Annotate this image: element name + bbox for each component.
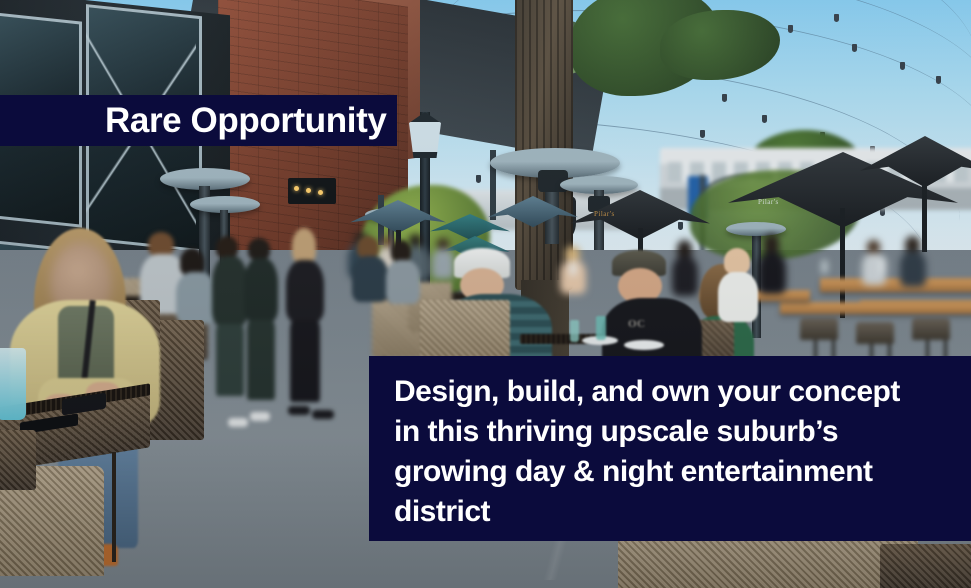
title-banner: Rare Opportunity	[0, 95, 397, 146]
body-banner-line-1: Design, build, and own your concept	[394, 372, 971, 412]
hero-slide: Pilar's Pilar's	[0, 0, 971, 588]
body-banner-line-4: district	[394, 492, 971, 532]
body-banner: Design, build, and own your concept in t…	[369, 356, 971, 541]
body-banner-line-2: in this thriving upscale suburb’s	[394, 412, 971, 452]
body-banner-line-3: growing day & night entertainment	[394, 452, 971, 492]
title-banner-text: Rare Opportunity	[105, 101, 386, 141]
